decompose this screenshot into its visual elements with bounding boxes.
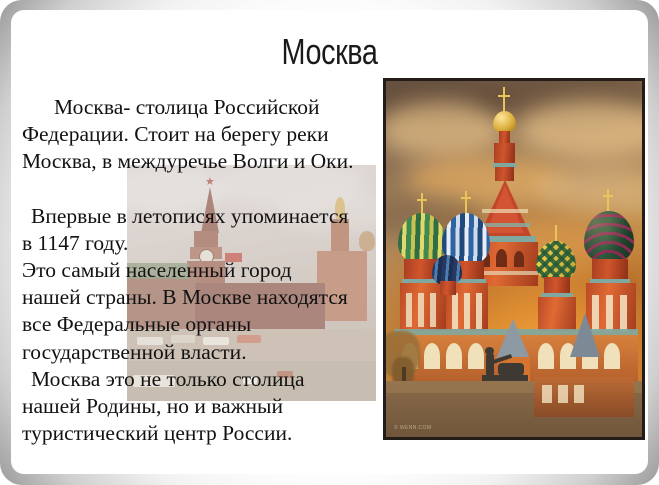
- photo-arch: [538, 343, 554, 369]
- photo-central-tent-band: [480, 223, 530, 227]
- photo-wing-pilaster: [542, 385, 552, 403]
- photo-central-tent-band: [482, 209, 528, 213]
- photo-central-gold-dome: [493, 111, 516, 133]
- photo-content: © WENN.COM: [386, 81, 642, 437]
- photo-central-cross-arm: [498, 95, 510, 97]
- photo-right-cross-staff: [607, 189, 609, 211]
- photo-arch: [446, 343, 462, 369]
- photo-arch: [468, 343, 484, 369]
- body-blank-line: [22, 176, 382, 203]
- body-line: все Федеральные органы: [22, 311, 382, 338]
- body-line: Москва это не только столица: [22, 366, 382, 393]
- photo-right-pilaster: [606, 295, 613, 333]
- slide-frame: Москва ★: [0, 0, 659, 485]
- photo-monument-head: [485, 347, 494, 355]
- slide-body-text: Москва- столица Российской Федерации. Ст…: [22, 94, 382, 447]
- body-line: нашей Родины, но и важный: [22, 393, 382, 420]
- page-title: Москва: [75, 32, 585, 72]
- photo-left-cross-staff: [421, 193, 423, 213]
- saint-basils-cathedral-photo: © WENN.COM: [383, 78, 645, 440]
- photo-left-pilaster: [418, 293, 424, 327]
- photo-right-cross-arm: [603, 195, 613, 197]
- photo-central-drum-lower: [495, 167, 514, 181]
- slide-canvas: Москва ★: [11, 10, 648, 474]
- photo-window: [514, 251, 524, 267]
- body-line: Федерации. Стоит на берегу реки: [22, 121, 382, 148]
- photo-central-drum-wide: [494, 143, 515, 165]
- body-line: Москва- столица Российской: [22, 94, 382, 121]
- photo-arch: [424, 343, 440, 369]
- body-line: туристический центр России.: [22, 420, 382, 447]
- photo-porch-tent: [496, 319, 530, 359]
- photo-watermark: © WENN.COM: [394, 425, 431, 431]
- photo-left-pilaster: [430, 293, 436, 327]
- photo-monument-seated-figure: [498, 363, 524, 376]
- photo-window: [496, 249, 507, 267]
- photo-monument-standing-figure: [486, 353, 494, 377]
- photo-blue-cross-arm: [461, 197, 471, 199]
- body-line: Москва, в междуречье Волги и Оки.: [22, 148, 382, 175]
- photo-wing-pilaster: [574, 385, 584, 403]
- photo-arch: [604, 343, 620, 369]
- body-line: государственной власти.: [22, 339, 382, 366]
- photo-central-cross-staff: [503, 87, 505, 113]
- body-line: нашей страны. В Москве находятся: [22, 284, 382, 311]
- body-line: Впервые в летописях упоминается: [22, 203, 382, 230]
- photo-wing-pilaster: [558, 385, 568, 403]
- photo-porch-tent: [570, 313, 600, 357]
- photo-right-pilaster: [620, 295, 627, 333]
- photo-left-cross-arm: [417, 199, 427, 201]
- photo-blue-pilaster: [464, 293, 470, 329]
- photo-small-blue-drum: [440, 281, 456, 295]
- photo-blue-cross-staff: [465, 191, 467, 213]
- photo-left-pilaster: [406, 293, 412, 327]
- photo-blue-pilaster: [476, 293, 482, 329]
- body-line: Это самый населенный город: [22, 257, 382, 284]
- photo-right-drum: [592, 259, 628, 281]
- photo-blue-pilaster: [452, 293, 458, 329]
- body-line: в 1147 году.: [22, 230, 382, 257]
